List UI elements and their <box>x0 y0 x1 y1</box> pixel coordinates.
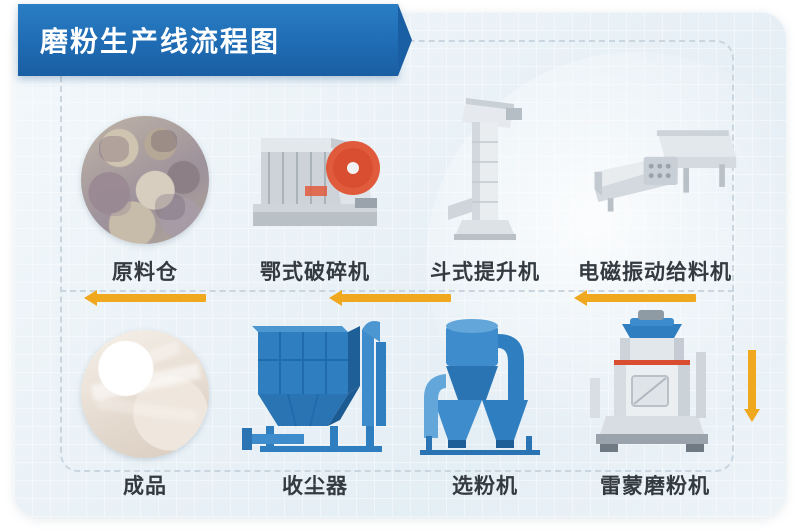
flow-row-bottom: 成品 <box>60 300 740 500</box>
flow-item-label: 电磁振动给料机 <box>578 256 732 286</box>
flow-item-raw-material-bin: 原料仓 <box>60 76 230 286</box>
title-banner: 磨粉生产线流程图 <box>18 4 398 76</box>
jaw-crusher-icon <box>235 94 395 244</box>
flow-item-label: 雷蒙磨粉机 <box>600 470 710 500</box>
finished-product-art <box>60 308 230 458</box>
flow-item-bucket-elevator: 斗式提升机 <box>400 76 570 286</box>
vibrating-feeder-art <box>570 94 740 244</box>
raw-material-art <box>60 94 230 244</box>
vibrating-feeder-icon <box>570 94 740 244</box>
flow-item-dust-collector: 收尘器 <box>230 300 400 500</box>
flow-item-label: 原料仓 <box>112 256 178 286</box>
dust-collector-art <box>230 308 400 458</box>
page-title: 磨粉生产线流程图 <box>40 20 280 60</box>
flow-item-label: 斗式提升机 <box>430 256 540 286</box>
powder-separator-art <box>400 308 570 458</box>
dust-collector-icon <box>230 308 400 458</box>
flow-item-jaw-crusher: 鄂式破碎机 <box>230 76 400 286</box>
flow-item-label: 选粉机 <box>452 470 518 500</box>
flow-item-raymond-mill: 雷蒙磨粉机 <box>570 300 740 500</box>
bucket-elevator-icon <box>410 94 560 244</box>
flow-item-finished-product: 成品 <box>60 300 230 500</box>
raymond-mill-icon <box>570 308 740 458</box>
raymond-mill-art <box>570 308 740 458</box>
jaw-crusher-art <box>230 94 400 244</box>
powder-separator-icon <box>400 308 570 458</box>
ore-photo-icon <box>81 116 209 244</box>
flow-item-label: 收尘器 <box>282 470 348 500</box>
flow-item-label: 成品 <box>123 470 167 500</box>
bucket-elevator-art <box>400 94 570 244</box>
flow-arrow-down <box>748 350 756 410</box>
powder-photo-icon <box>81 330 209 458</box>
diagram-page: 磨粉生产线流程图 原料仓 <box>0 0 800 530</box>
flow-item-vibrating-feeder: 电磁振动给料机 <box>570 76 740 286</box>
flow-row-top: 原料仓 <box>60 76 740 286</box>
flow-item-powder-separator: 选粉机 <box>400 300 570 500</box>
flow-item-label: 鄂式破碎机 <box>260 256 370 286</box>
